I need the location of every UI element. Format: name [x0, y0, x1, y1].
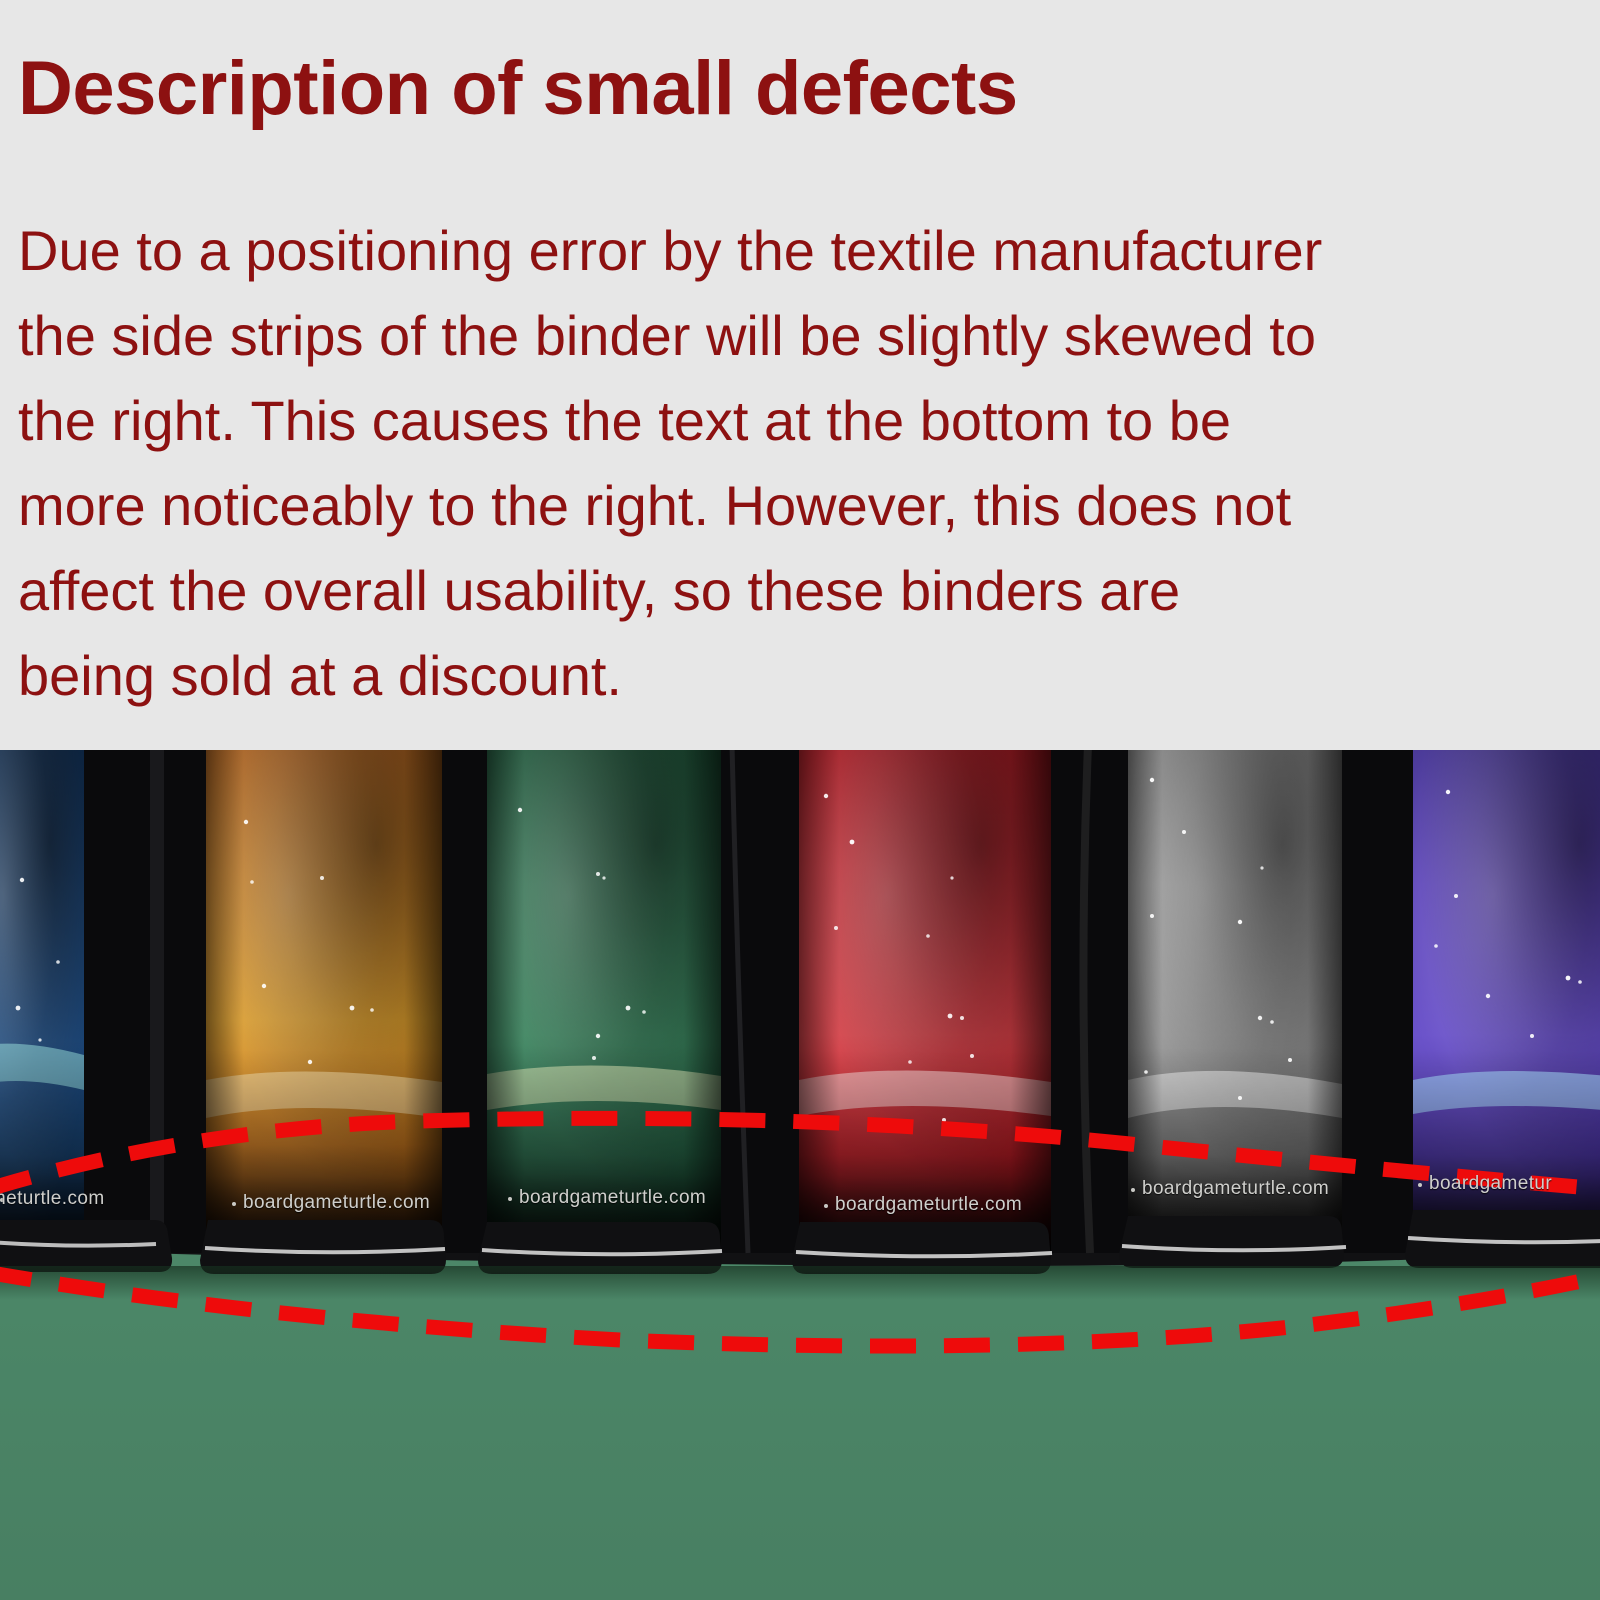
spine-url-dot — [508, 1197, 512, 1201]
spine-url-dot — [824, 1204, 828, 1208]
binder-photo-illustration — [0, 750, 1600, 1600]
spine-url-dot — [1131, 1188, 1135, 1192]
spine-url-dot — [232, 1202, 236, 1206]
spine-url-dot — [1418, 1183, 1422, 1187]
description-paragraph: Due to a positioning error by the textil… — [18, 208, 1600, 718]
binder-photo: gameturtle.com boardgameturtle.com board… — [0, 750, 1600, 1600]
binder-row — [0, 750, 1600, 1266]
product-defect-description-page: Description of small defects Due to a po… — [0, 0, 1600, 1600]
description-panel: Description of small defects Due to a po… — [0, 0, 1600, 750]
page-title: Description of small defects — [18, 46, 1018, 132]
spine-url-dot — [0, 1198, 4, 1202]
